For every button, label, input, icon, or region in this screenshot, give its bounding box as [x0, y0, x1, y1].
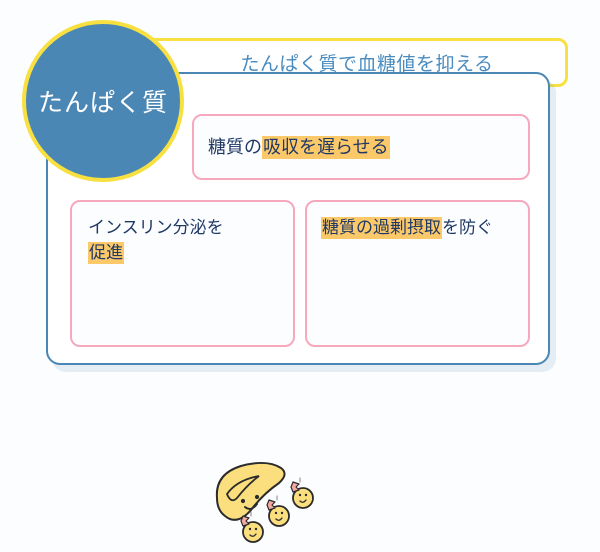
card-absorption-plain: 糖質の — [208, 137, 262, 158]
card-insulin-highlight: 促進 — [88, 242, 124, 264]
card-absorption-highlight: 吸収を遅らせる — [262, 136, 390, 159]
card-overintake-text: 糖質の過剰摂取を防ぐ — [321, 216, 511, 241]
infographic-canvas: たんぱく質で血糖値を抑える たんぱく質 糖質の吸収を遅らせる — [0, 0, 600, 400]
pancreas-insulin-illustration — [207, 454, 327, 546]
card-overintake: 糖質の過剰摂取を防ぐ — [305, 200, 530, 347]
card-insulin-text: インスリン分泌を促進 — [88, 216, 248, 265]
card-overintake-plain: を防ぐ — [442, 218, 493, 238]
card-absorption: 糖質の吸収を遅らせる — [192, 114, 530, 180]
card-insulin-plain: インスリン分泌を — [88, 218, 224, 238]
protein-circle-badge: たんぱく質 — [22, 20, 184, 182]
card-overintake-highlight: 糖質の過剰摂取 — [321, 217, 442, 239]
card-absorption-text: 糖質の吸収を遅らせる — [208, 135, 390, 161]
badge-label: たんぱく質 — [38, 83, 168, 119]
card-insulin: インスリン分泌を促進 — [70, 200, 295, 347]
